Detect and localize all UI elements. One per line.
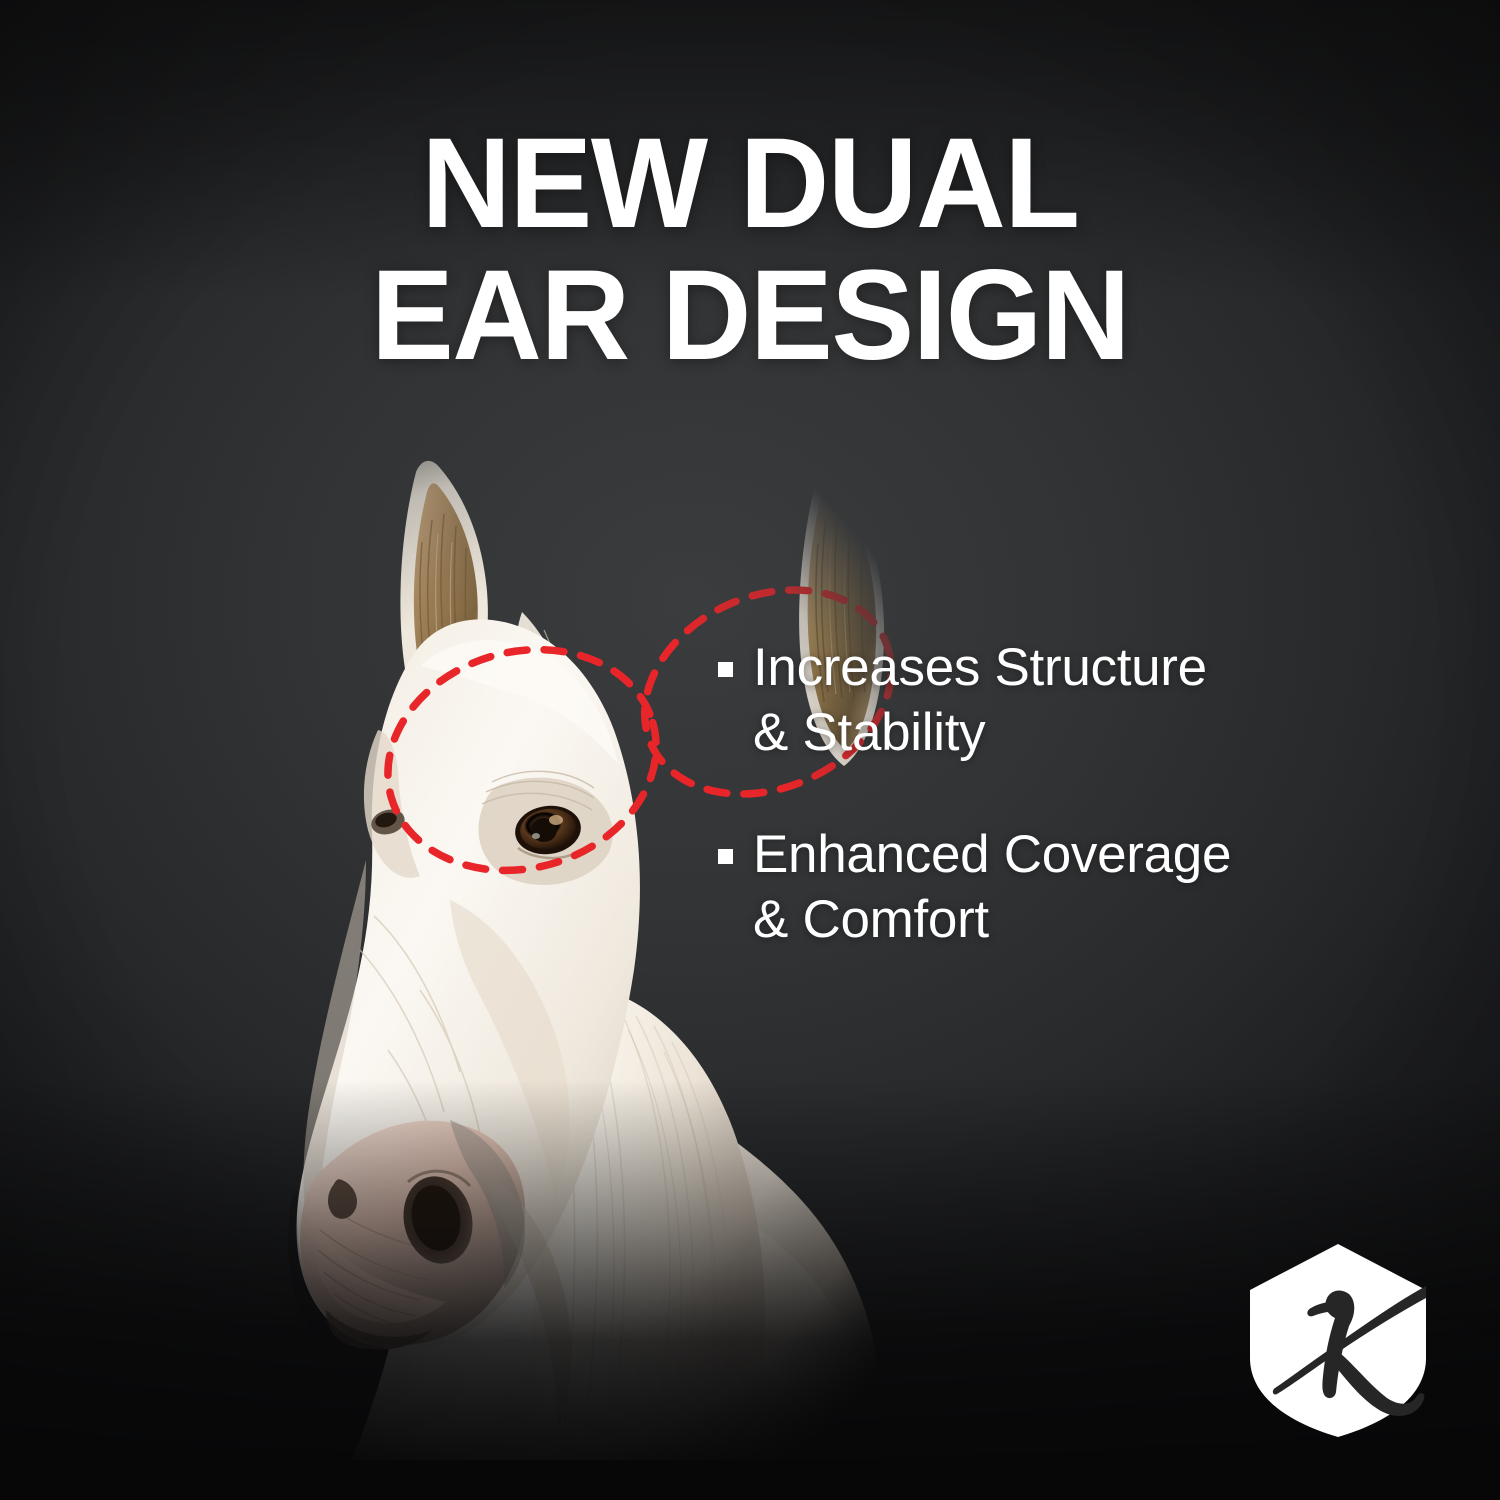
headline: NEW DUAL EAR DESIGN bbox=[23, 118, 1478, 382]
brand-logo-badge bbox=[1243, 1240, 1433, 1440]
feature-text-line-2: & Stability bbox=[753, 703, 985, 762]
headline-line-1: NEW DUAL bbox=[23, 118, 1478, 250]
feature-item: Enhanced Coverage & Comfort bbox=[718, 823, 1418, 952]
bullet-square-icon bbox=[718, 662, 733, 677]
feature-text-line-1: Increases Structure bbox=[753, 638, 1207, 697]
bullet-square-icon bbox=[718, 849, 733, 864]
feature-text-line-1: Enhanced Coverage bbox=[753, 825, 1231, 884]
product-marketing-image: NEW DUAL EAR DESIGN Increases Structure … bbox=[0, 0, 1500, 1500]
headline-line-2: EAR DESIGN bbox=[23, 250, 1478, 382]
feature-text: Enhanced Coverage & Comfort bbox=[753, 823, 1231, 952]
feature-list: Increases Structure & Stability Enhanced… bbox=[718, 636, 1418, 953]
feature-text-line-2: & Comfort bbox=[753, 890, 989, 949]
feature-text: Increases Structure & Stability bbox=[753, 636, 1207, 765]
feature-item: Increases Structure & Stability bbox=[718, 636, 1418, 765]
